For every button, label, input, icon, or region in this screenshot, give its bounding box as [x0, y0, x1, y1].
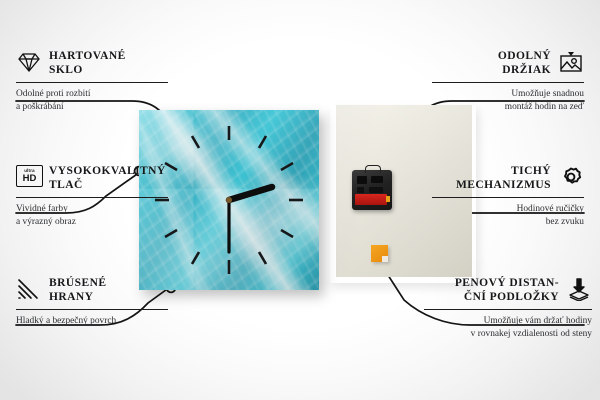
beveled-edge-icon: [16, 277, 42, 301]
press-down-pads-icon: [566, 277, 592, 301]
feature-desc-line1: Umožňuje vám držať hodiny: [424, 315, 592, 327]
feature-divider: [432, 197, 584, 198]
feature-tempered-glass: HARTOVANÉ SKLO Odolné proti rozbití a po…: [16, 50, 168, 113]
gear-icon: [558, 165, 584, 189]
clock-center-cap: [226, 197, 232, 203]
mechanism-battery: [355, 194, 387, 205]
wall-mount-frame-icon: [558, 50, 584, 74]
feature-silent-mechanism: TICHÝ MECHANIZMUS Hodinové ručičky bez z…: [432, 165, 584, 228]
feature-divider: [16, 309, 168, 310]
clock-hour-hand: [229, 187, 272, 200]
feature-desc-line1: Odolné proti rozbití: [16, 88, 168, 100]
mechanism-hanger-hook: [365, 165, 381, 173]
mechanism-detail: [369, 187, 383, 193]
mechanism-detail: [371, 176, 383, 183]
feature-high-quality-print: ultra HD VYSOKOKVALITNÝ TLAČ Vividné far…: [16, 165, 168, 228]
feature-durable-holder: ODOLNÝ DRŽIAK Umožňuje snadnou montáž ho…: [432, 50, 584, 113]
feature-divider: [16, 82, 168, 83]
feature-desc-line1: Hladký a bezpečný povrch: [16, 315, 168, 327]
feature-beveled-edges: BRÚSENÉ HRANY Hladký a bezpečný povrch: [16, 277, 168, 328]
feature-title-line1: TICHÝ: [456, 165, 551, 179]
feature-divider: [16, 197, 168, 198]
feature-title-line2: ČNÍ PODLOŽKY: [455, 291, 559, 305]
feature-desc-line2: montáž hodin na zeď: [432, 101, 584, 113]
feature-title-line1: BRÚSENÉ: [49, 277, 106, 291]
battery-terminal: [386, 196, 390, 202]
feature-title-line1: PENOVÝ DISTAN-: [455, 277, 559, 291]
pad-corner: [382, 256, 388, 262]
feature-desc-line2: a výrazný obraz: [16, 216, 168, 228]
feature-divider: [432, 82, 584, 83]
diamond-icon: [16, 50, 42, 74]
feature-title-line2: SKLO: [49, 64, 126, 78]
feature-title-line2: DRŽIAK: [498, 64, 551, 78]
feature-title-line2: TLAČ: [49, 179, 166, 193]
feature-title-line2: HRANY: [49, 291, 106, 305]
feature-desc-line2: v rovnakej vzdialenosti od steny: [424, 328, 592, 340]
feature-foam-spacers: PENOVÝ DISTAN- ČNÍ PODLOŽKY Umožňuje vám…: [424, 277, 592, 340]
feature-desc-line2: bez zvuku: [432, 216, 584, 228]
feature-title-line2: MECHANIZMUS: [456, 179, 551, 193]
foam-spacer-pad: [371, 245, 388, 262]
badge-large-label: HD: [23, 174, 37, 184]
feature-desc-line1: Vividné farby: [16, 203, 168, 215]
ultra-hd-badge-icon: ultra HD: [16, 165, 42, 189]
feature-desc-line2: a poškrábání: [16, 101, 168, 113]
feature-desc-line1: Umožňuje snadnou: [432, 88, 584, 100]
mechanism-detail: [357, 187, 364, 193]
infographic-canvas: HARTOVANÉ SKLO Odolné proti rozbití a po…: [0, 0, 600, 400]
feature-divider: [424, 309, 592, 310]
feature-desc-line1: Hodinové ručičky: [432, 203, 584, 215]
feature-title-line1: HARTOVANÉ: [49, 50, 126, 64]
mechanism-detail: [357, 176, 367, 184]
feature-title-line1: VYSOKOKVALITNÝ: [49, 165, 166, 179]
feature-title-line1: ODOLNÝ: [498, 50, 551, 64]
clock-mechanism: [352, 170, 392, 210]
